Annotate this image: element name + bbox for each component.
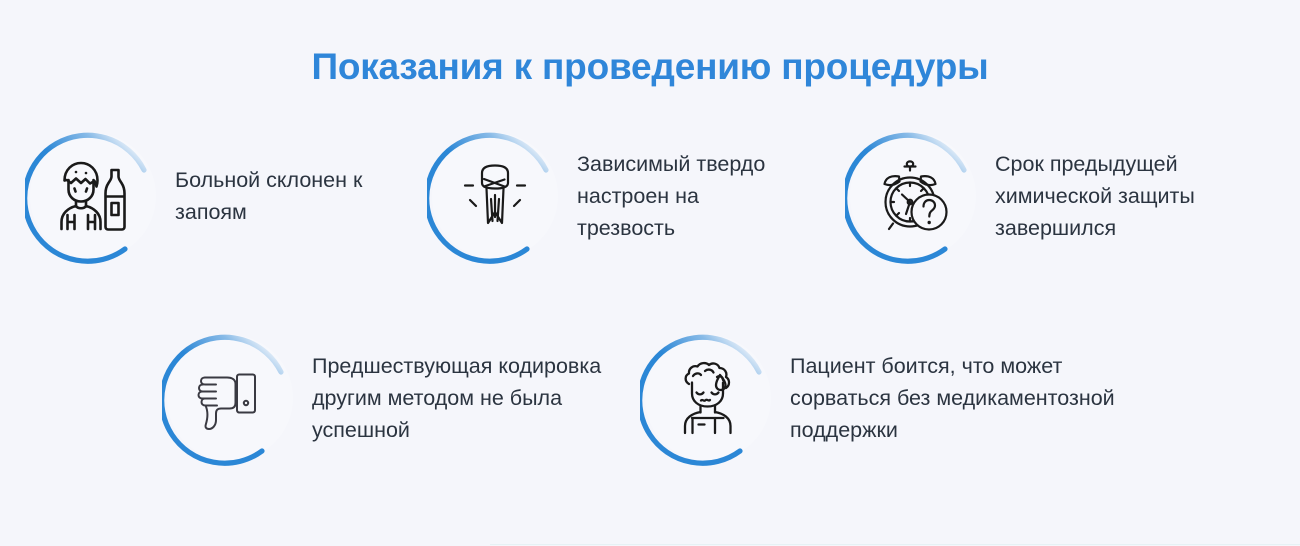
- bottom-divider: [490, 544, 1300, 545]
- indication-label: Больной склонен к запоям: [161, 164, 401, 228]
- indication-item[interactable]: Больной склонен к запоям: [25, 128, 427, 264]
- worried-patient-icon: [640, 330, 776, 466]
- indication-badge: [427, 128, 563, 264]
- person-with-bottle-icon: [25, 128, 161, 264]
- indication-label: Предшествующая кодировка другим методом …: [298, 350, 638, 446]
- indication-row-2: Предшествующая кодировка другим методом …: [0, 330, 1300, 466]
- indication-label: Срок предыдущей химической защиты заверш…: [981, 148, 1231, 244]
- indication-label: Зависимый твердо настроен на трезвость: [563, 148, 788, 244]
- indication-label: Пациент боится, что может сорваться без …: [776, 350, 1136, 446]
- indication-badge: [25, 128, 161, 264]
- indication-badge: [162, 330, 298, 466]
- thumbs-down-icon: [162, 330, 298, 466]
- indication-badge: [640, 330, 776, 466]
- page-title: Показания к проведению процедуры: [0, 44, 1300, 90]
- determined-person-icon: [427, 128, 563, 264]
- indication-badge: [845, 128, 981, 264]
- indication-item[interactable]: Зависимый твердо настроен на трезвость: [427, 128, 845, 264]
- indication-item[interactable]: Предшествующая кодировка другим методом …: [162, 330, 640, 466]
- indication-row-1: Больной склонен к запоям: [0, 128, 1300, 264]
- indication-item[interactable]: Пациент боится, что может сорваться без …: [640, 330, 1138, 466]
- alarm-clock-question-icon: [845, 128, 981, 264]
- indication-item[interactable]: Срок предыдущей химической защиты заверш…: [845, 128, 1275, 264]
- infographic-page: Показания к проведению процедуры: [0, 0, 1300, 546]
